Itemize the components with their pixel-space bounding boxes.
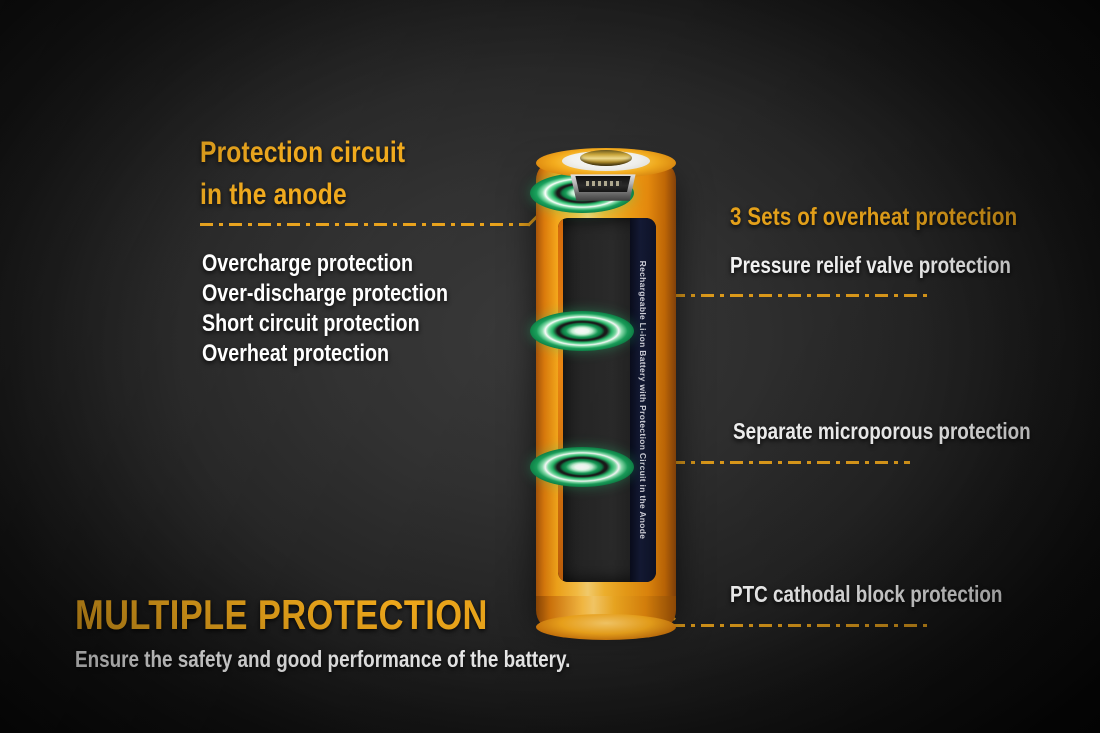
overheat-ring-middle [530, 311, 634, 351]
page-title: MULTIPLE PROTECTION [75, 591, 488, 639]
battery-illustration: Rechargeable Li-ion Battery with Protect… [536, 148, 676, 628]
list-item: Over-discharge protection [202, 279, 448, 309]
connector-ptc-block [672, 624, 930, 627]
left-protection-list: Overcharge protection Over-discharge pro… [202, 249, 502, 369]
battery-cutaway-window: Rechargeable Li-ion Battery with Protect… [558, 218, 656, 582]
connector-left-anode [200, 223, 530, 226]
battery-bottom-ellipse [536, 614, 676, 640]
battery-label-strip: Rechargeable Li-ion Battery with Protect… [630, 218, 656, 582]
page-subtitle: Ensure the safety and good performance o… [75, 646, 570, 673]
battery-label-text: Rechargeable Li-ion Battery with Protect… [638, 235, 648, 565]
list-item: Overheat protection [202, 339, 448, 369]
connector-pressure-valve [672, 294, 930, 297]
list-item: Overcharge protection [202, 249, 448, 279]
left-heading-line1: Protection circuit [200, 136, 405, 170]
left-heading-line2: in the anode [200, 178, 347, 212]
label-pressure-relief-valve: Pressure relief valve protection [730, 252, 1011, 279]
overheat-ring-bottom [530, 447, 634, 487]
label-separate-microporous: Separate microporous protection [733, 418, 1031, 445]
connector-microporous [672, 461, 910, 464]
list-item: Short circuit protection [202, 309, 448, 339]
right-heading: 3 Sets of overheat protection [730, 203, 1017, 232]
battery-positive-terminal [580, 150, 632, 166]
label-ptc-cathodal-block: PTC cathodal block protection [730, 581, 1002, 608]
battery-inner-orange-strip [558, 218, 563, 582]
micro-usb-port-icon [566, 172, 640, 202]
infographic-canvas: Rechargeable Li-ion Battery with Protect… [0, 0, 1100, 733]
